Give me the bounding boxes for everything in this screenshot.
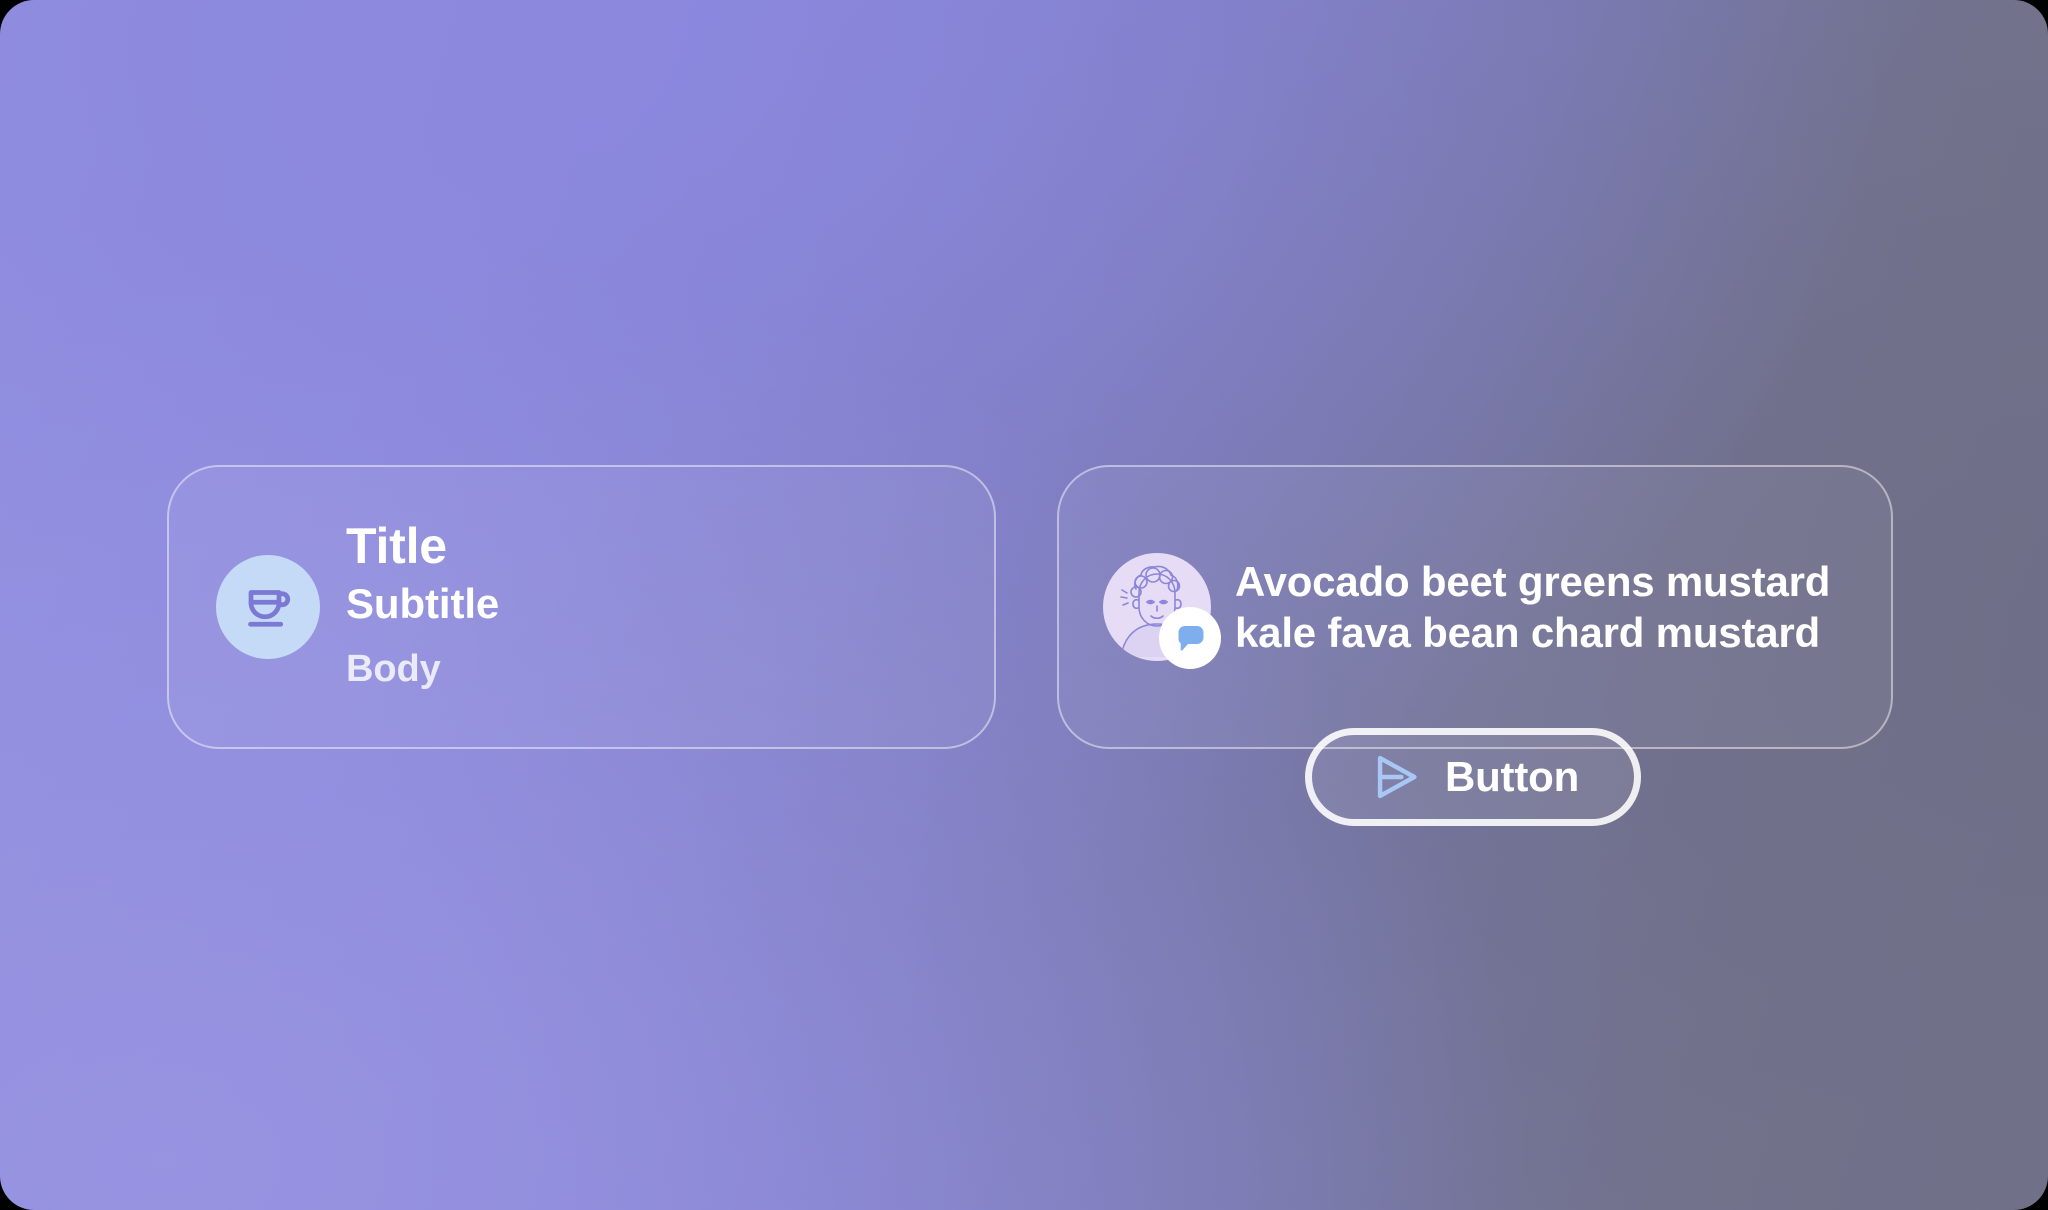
send-button-label: Button [1445,753,1579,801]
avatar [1103,553,1211,661]
chat-bubble-icon [1170,618,1210,658]
send-button[interactable]: Button [1305,728,1641,826]
chat-bubble-badge [1159,607,1221,669]
left-info-card[interactable]: Title Subtitle Body [167,465,996,749]
coffee-cup-icon [238,577,298,637]
app-surface: Title Subtitle Body [0,0,2048,1210]
left-card-text-block: Title Subtitle Body [346,520,499,693]
message-text: Avocado beet greens mustard kale fava be… [1235,556,1855,658]
card-title: Title [346,520,499,573]
send-paper-plane-icon [1367,749,1423,805]
right-message-card[interactable]: Avocado beet greens mustard kale fava be… [1057,465,1893,749]
card-body: Body [346,646,499,693]
card-subtitle: Subtitle [346,578,499,630]
cards-row: Title Subtitle Body [167,465,1893,749]
coffee-cup-avatar [216,555,320,659]
